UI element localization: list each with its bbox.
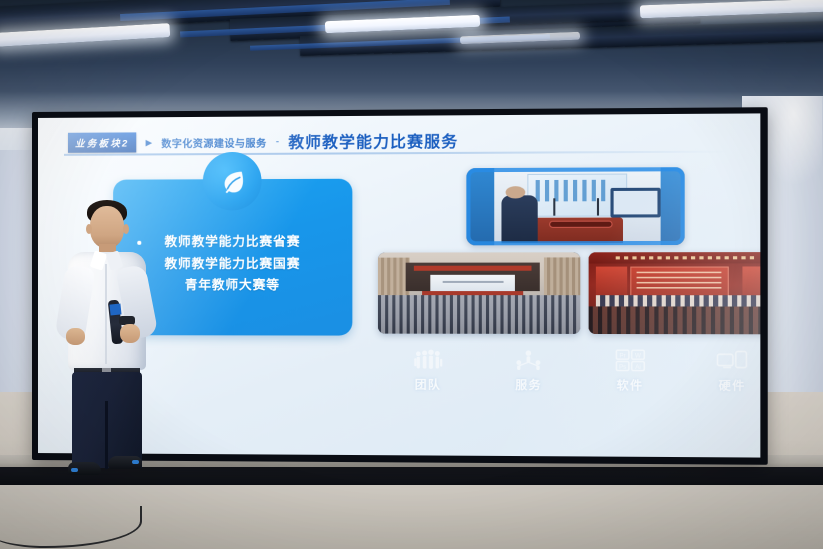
feature-icon-row: 团队 服务 bbox=[378, 347, 760, 405]
service-icon bbox=[513, 347, 544, 374]
breadcrumb-dash: - bbox=[276, 136, 279, 147]
team-icon bbox=[413, 347, 444, 373]
photo-board-text bbox=[637, 272, 722, 292]
shoe-accent bbox=[132, 460, 139, 464]
presenter-head bbox=[90, 206, 124, 248]
presenter-shirt-placket bbox=[105, 264, 107, 364]
section-badge: 业务板块2 bbox=[68, 133, 137, 153]
presenter-ear bbox=[86, 224, 92, 234]
breadcrumb-arrow-icon: ▶ bbox=[146, 137, 153, 148]
svg-text:Ai: Ai bbox=[635, 365, 641, 371]
presenter bbox=[44, 196, 164, 488]
presenter-ear bbox=[123, 224, 129, 234]
presentation-photo: 业务板块2 ▶ 数字化资源建设与服务 - 教师教学能力比赛服务 教师教学能力比赛… bbox=[0, 0, 823, 549]
photo-screen-text bbox=[442, 281, 503, 283]
photo-podium-presentation bbox=[466, 167, 684, 245]
svg-text:Pr: Pr bbox=[619, 353, 625, 359]
photo-banner-title bbox=[615, 256, 754, 259]
feature-label-hardware: 硬件 bbox=[719, 377, 746, 394]
photo-award-ceremony bbox=[589, 252, 761, 334]
trouser-leg-split bbox=[105, 401, 108, 469]
feature-label-software: 软件 bbox=[617, 377, 644, 393]
slide-title: 教师教学能力比赛服务 bbox=[288, 130, 458, 153]
leaf-icon bbox=[203, 152, 262, 211]
feature-label-service: 服务 bbox=[515, 377, 542, 393]
presenter-right-hand bbox=[120, 324, 140, 343]
microphone-brand-band bbox=[109, 303, 121, 315]
photo-auditorium-audience bbox=[378, 252, 580, 334]
photo-stage-banner bbox=[414, 265, 531, 271]
photo-audience-foreground bbox=[589, 306, 761, 334]
slide-header: 业务板块2 ▶ 数字化资源建设与服务 - 教师教学能力比赛服务 bbox=[68, 130, 458, 154]
breadcrumb-text: 数字化资源建设与服务 bbox=[161, 134, 266, 150]
svg-text:Ps: Ps bbox=[619, 365, 626, 371]
feature-item-team: 团队 bbox=[378, 347, 478, 404]
feature-item-software: Pr W Ps Ai 软件 bbox=[579, 347, 681, 405]
photo-hall-wall bbox=[544, 257, 581, 299]
feature-item-service: 服务 bbox=[478, 347, 579, 404]
feature-label-team: 团队 bbox=[415, 376, 442, 392]
shoe-accent bbox=[71, 468, 78, 472]
presenter-left-hand bbox=[66, 328, 85, 345]
svg-text:W: W bbox=[635, 353, 641, 359]
feature-item-hardware: 硬件 bbox=[681, 347, 760, 405]
photo-aisle bbox=[471, 295, 485, 334]
photo-side-panel bbox=[743, 266, 761, 296]
photo-border bbox=[466, 167, 684, 245]
software-icon: Pr W Ps Ai bbox=[613, 347, 646, 374]
photo-side-panel bbox=[596, 266, 627, 295]
hardware-icon bbox=[715, 348, 749, 375]
